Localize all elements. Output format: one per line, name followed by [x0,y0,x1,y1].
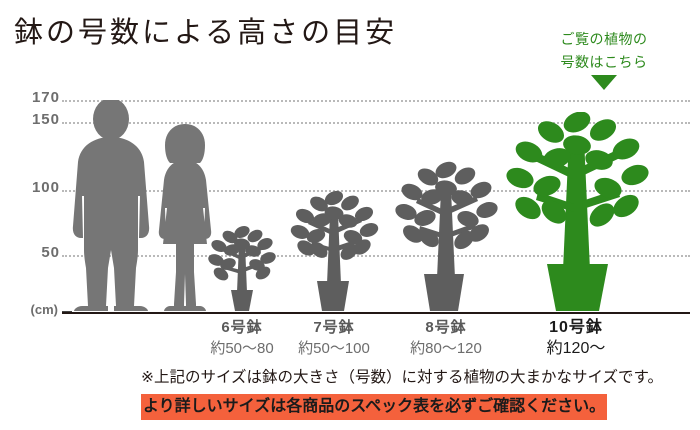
caption-8go: 8号鉢 約80〜120 [371,318,521,359]
footnote-general: ※上記のサイズは鉢の大きさ（号数）に対する植物の大まかなサイズです。 [141,367,663,389]
caption-10go: 10号鉢 約120〜 [501,318,651,359]
infographic-canvas: 鉢の号数による高さの目安 170 150 100 50 (cm) [0,0,700,430]
caption-8go-name: 8号鉢 [371,318,521,338]
figure-tree-7go [286,186,382,312]
axis-tick-label-50: 50 [12,244,60,261]
current-plant-annotation: ご覧の植物の 号数はこちら [519,28,689,90]
gridline-170 [62,100,690,102]
tree-8go-graphic [390,156,502,312]
axis-unit-label: (cm) [2,302,58,317]
caption-10go-name: 10号鉢 [501,318,651,338]
figure-tree-6go [203,220,281,312]
person-male-silhouette [68,100,154,312]
figure-tree-10go [502,112,652,312]
axis-tick-label-170: 170 [12,89,60,106]
footnote-highlighted: より詳しいサイズは各商品のスペック表を必ずご確認ください。 [141,394,607,420]
figure-tree-8go [390,156,502,312]
tree-7go-graphic [286,186,382,312]
figure-person-male [68,100,154,312]
annotation-line-2: 号数はこちら [519,51,689,74]
chart-baseline [62,312,690,314]
down-triangle-icon [591,75,617,90]
axis-tick-label-150: 150 [12,111,60,128]
caption-8go-range: 約80〜120 [371,338,521,359]
tree-10go-graphic [502,112,652,312]
tree-6go-graphic [203,220,281,312]
caption-10go-range: 約120〜 [501,338,651,359]
annotation-line-1: ご覧の植物の [519,28,689,51]
axis-tick-label-100: 100 [12,179,60,196]
